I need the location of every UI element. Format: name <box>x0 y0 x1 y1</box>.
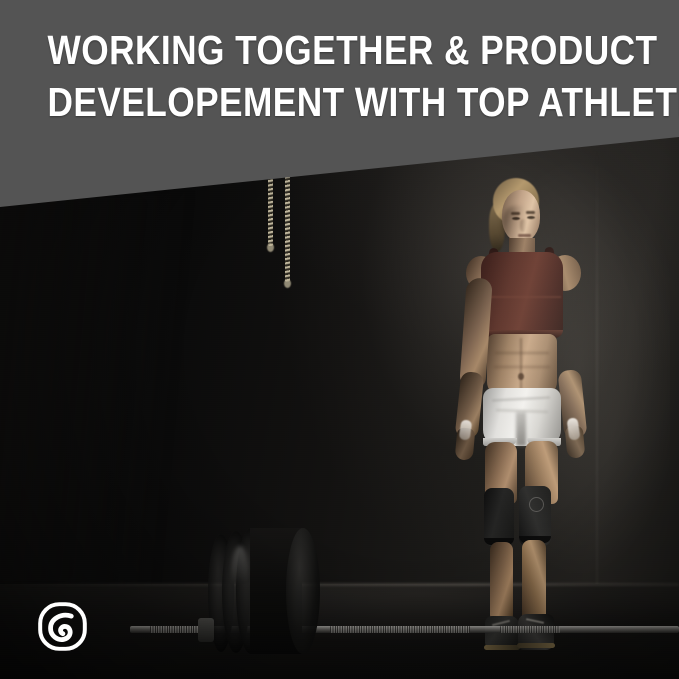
headline-line-2: DEVELOPEMENT WITH TOP ATHLETES <box>48 76 632 128</box>
nose <box>520 219 526 232</box>
barbell-collar <box>198 618 214 642</box>
shoe-sole-left <box>484 645 520 650</box>
ab-crease-upper <box>495 352 549 354</box>
eyebrow-right <box>526 211 535 214</box>
knee-sleeve-logo <box>529 497 544 512</box>
mouth <box>518 234 531 237</box>
brand-logo <box>37 601 88 652</box>
barbell-plate-highlight <box>232 546 248 598</box>
eye-right <box>527 216 535 219</box>
header-banner-text-block: WORKING TOGETHER & PRODUCT DEVELOPEMENT … <box>0 0 679 128</box>
logo-spiral-wave <box>51 615 72 639</box>
shoe-sole-right <box>517 643 555 648</box>
eyebrow-left <box>511 212 520 215</box>
barbell-plate-face <box>286 528 320 654</box>
abdomen <box>487 334 557 396</box>
product-ad-card: WORKING TOGETHER & PRODUCT DEVELOPEMENT … <box>0 0 679 679</box>
eye-left <box>512 217 520 220</box>
ab-midline <box>520 338 522 390</box>
calf-left <box>490 542 513 620</box>
bra-seam <box>483 296 561 298</box>
shorts-center-seam <box>516 412 526 446</box>
barbell-knurling-center <box>330 626 470 633</box>
headline-line-1: WORKING TOGETHER & PRODUCT <box>48 24 632 76</box>
ab-crease-lower <box>494 366 550 368</box>
calf-right <box>522 540 546 620</box>
navel <box>518 373 524 380</box>
barbell-knurling-right <box>500 626 560 633</box>
